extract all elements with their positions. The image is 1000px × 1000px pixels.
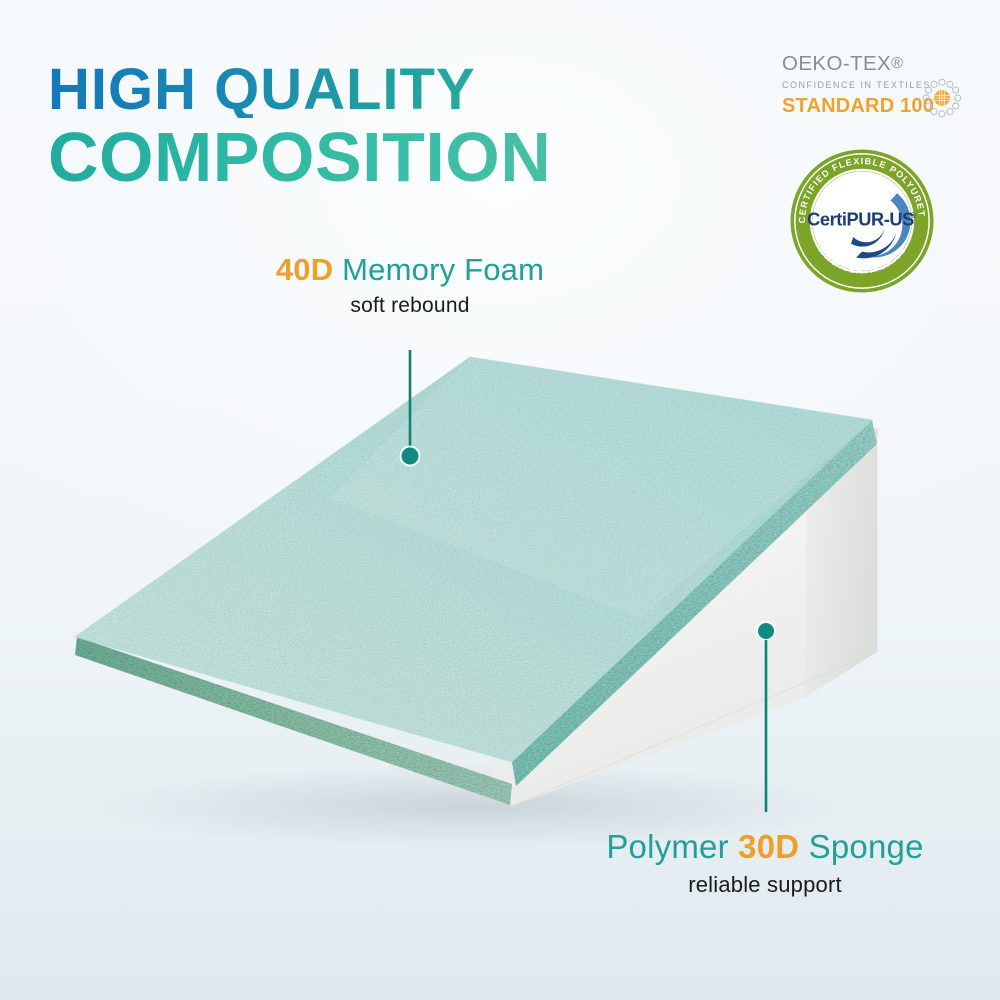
callout-memory-foam: 40D Memory Foam soft rebound — [160, 252, 660, 318]
callout-memory-foam-material: Memory Foam — [342, 252, 544, 287]
callout-polymer-sponge-prefix: Polymer — [606, 828, 728, 865]
infographic-canvas: HIGH QUALITY COMPOSITION OEKO-TEX® CONFI… — [0, 0, 1000, 1000]
certipur-wordmark-registered-icon: ® — [910, 211, 916, 220]
oeko-tex-brand: OEKO-TEX® — [782, 52, 972, 76]
oeko-tex-brand-text: OEKO-TEX — [782, 52, 891, 75]
oeko-tex-flower-icon — [920, 76, 964, 120]
callout-polymer-sponge-description: reliable support — [515, 872, 1000, 898]
callout-memory-foam-density: 40D — [276, 252, 333, 287]
callout-polymer-sponge-title: Polymer 30D Sponge — [515, 828, 1000, 866]
page-title-line-2: COMPOSITION — [48, 124, 551, 191]
page-title: HIGH QUALITY COMPOSITION — [48, 62, 551, 191]
certipur-us-badge: CONTAINS CERTIFIED FLEXIBLE POLYURETHANE… — [789, 148, 935, 294]
registered-trademark-icon: ® — [891, 55, 903, 72]
callout-memory-foam-title: 40D Memory Foam — [160, 252, 660, 288]
callout-polymer-sponge-material: Sponge — [809, 828, 924, 865]
callout-memory-foam-description: soft rebound — [160, 294, 660, 318]
oeko-tex-badge: OEKO-TEX® CONFIDENCE IN TEXTILES STANDAR… — [782, 52, 972, 118]
page-title-line-1: HIGH QUALITY — [48, 62, 551, 118]
certipur-wordmark: CertiPUR-US — [807, 208, 914, 229]
callout-polymer-sponge-density: 30D — [738, 828, 799, 865]
callout-polymer-sponge: Polymer 30D Sponge reliable support — [515, 828, 1000, 898]
